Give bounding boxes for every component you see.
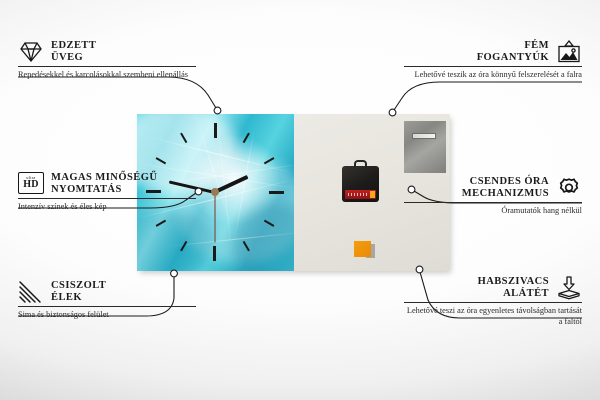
clock-center-cap	[211, 188, 219, 196]
foam-pad-icon	[556, 276, 582, 300]
clock-second-hand	[215, 192, 216, 242]
feature-title-line2: ALÁTÉT	[478, 288, 549, 300]
feature-title-line2: MECHANIZMUS	[462, 188, 549, 200]
divider	[404, 66, 582, 67]
feature-description: Intenzív színek és éles kép	[18, 202, 196, 213]
feature-foam-spacer: HABSZIVACS ALÁTÉT Lehetővé teszi az óra …	[404, 276, 582, 327]
feature-title-line1: CSISZOLT	[51, 280, 106, 292]
feature-heading: ultra HD MAGAS MINŐSÉGŰ NYOMTATÁS	[18, 172, 196, 196]
feature-description: Repedésekkel és karcolásokkal szembeni e…	[18, 70, 196, 81]
divider	[404, 302, 582, 303]
clock-hour-hand	[214, 175, 248, 194]
feature-title-line1: MAGAS MINŐSÉGŰ	[51, 172, 157, 184]
ultra-hd-badge-main: HD	[23, 180, 38, 190]
divider	[18, 306, 196, 307]
clock-mechanism	[342, 166, 379, 202]
feature-heading: CSISZOLT ÉLEK	[18, 280, 196, 304]
divider	[404, 202, 582, 203]
ultra-hd-icon: ultra HD	[18, 172, 44, 196]
gear-icon	[556, 176, 582, 200]
feature-polished-edges: CSISZOLT ÉLEK Sima és biztonságos felüle…	[18, 280, 196, 321]
feature-title-line1: HABSZIVACS	[478, 276, 549, 288]
feature-title-line2: FOGANTYÚK	[477, 52, 549, 64]
battery-label	[348, 193, 368, 196]
feature-title-line2: ÜVEG	[51, 52, 96, 64]
divider	[18, 66, 196, 67]
battery-terminal	[370, 191, 375, 198]
polished-edge-icon	[18, 280, 44, 304]
metal-hanger-plate	[404, 121, 446, 173]
feature-description: Óramutatók hang nélkül	[404, 206, 582, 217]
feature-metal-handles: FÉM FOGANTYÚK Lehetővé teszik az óra kön…	[404, 40, 582, 81]
diamond-icon	[18, 40, 44, 64]
feature-heading: FÉM FOGANTYÚK	[404, 40, 582, 64]
feature-description: Sima és biztonságos felület	[18, 310, 196, 321]
feature-silent-mechanism: CSENDES ÓRA MECHANIZMUS Óramutatók hang …	[404, 176, 582, 217]
feature-heading: HABSZIVACS ALÁTÉT	[404, 276, 582, 300]
feature-description: Lehetővé teszi az óra egyenletes távolsá…	[404, 306, 582, 327]
feature-description: Lehetővé teszik az óra könnyű felszerelé…	[404, 70, 582, 81]
feature-heading: CSENDES ÓRA MECHANIZMUS	[404, 176, 582, 200]
feature-high-quality-print: ultra HD MAGAS MINŐSÉGŰ NYOMTATÁS Intenz…	[18, 172, 196, 213]
foam-pad	[354, 241, 371, 257]
battery	[345, 190, 376, 199]
feature-tempered-glass: EDZETT ÜVEG Repedésekkel és karcolásokka…	[18, 40, 196, 81]
feature-title-line1: FÉM	[477, 40, 549, 52]
hanger-slot	[412, 133, 436, 139]
feature-heading: EDZETT ÜVEG	[18, 40, 196, 64]
divider	[18, 198, 196, 199]
mechanism-hook	[354, 160, 367, 168]
feature-title-line1: EDZETT	[51, 40, 96, 52]
infographic-stage: EDZETT ÜVEG Repedésekkel és karcolásokka…	[0, 0, 600, 400]
feature-title-line2: ÉLEK	[51, 292, 106, 304]
feature-title-line1: CSENDES ÓRA	[462, 176, 549, 188]
picture-hanger-icon	[556, 40, 582, 64]
feature-title-line2: NYOMTATÁS	[51, 184, 157, 196]
